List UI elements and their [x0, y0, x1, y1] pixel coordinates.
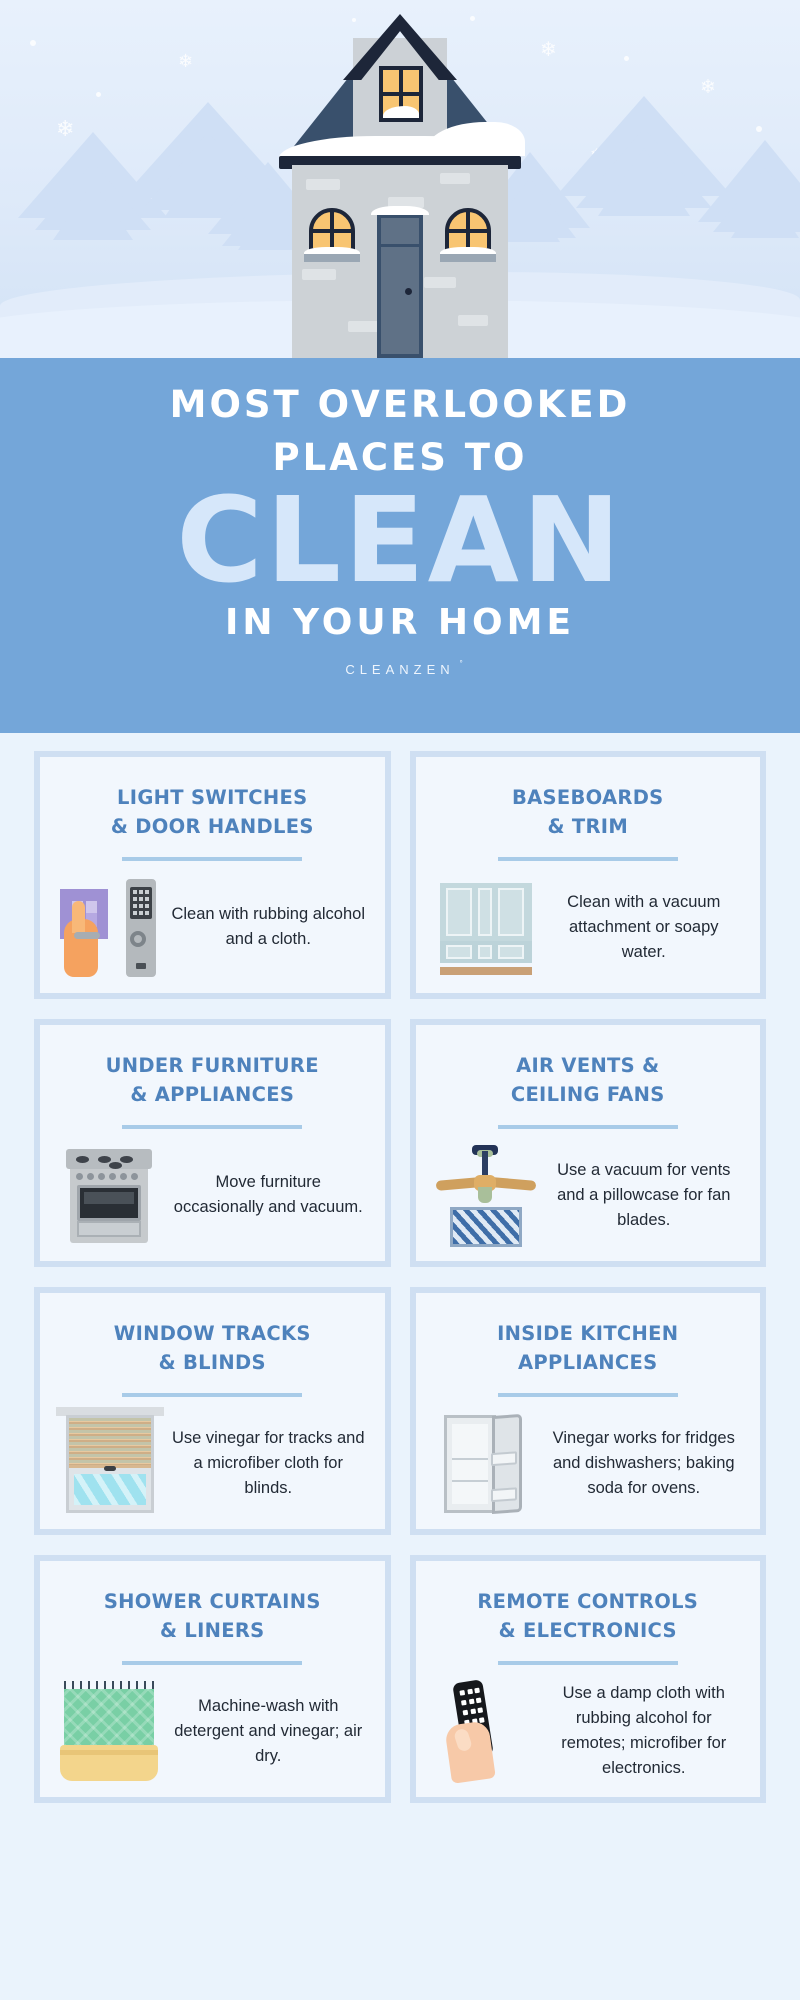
window-sill-snow — [304, 247, 360, 254]
card-divider — [498, 1393, 678, 1397]
card-description: Clean with rubbing alcohol and a cloth. — [170, 902, 367, 952]
snowflake-icon: ❄ — [540, 40, 557, 60]
tip-card-remote-controls: REMOTE CONTROLS & ELECTRONICS — [410, 1555, 767, 1803]
tip-card-under-furniture: UNDER FURNITURE & APPLIANCES — [34, 1019, 391, 1267]
card-title-line-1: BASEBOARDS — [432, 783, 745, 812]
card-title-line-2: & DOOR HANDLES — [56, 812, 369, 841]
light-switch-door-handle-icon — [58, 875, 162, 979]
tip-card-window-tracks: WINDOW TRACKS & BLINDS Use vinegar for t… — [34, 1287, 391, 1535]
card-description: Use vinegar for tracks and a microfiber … — [170, 1426, 367, 1501]
front-door — [377, 214, 423, 358]
card-title: UNDER FURNITURE & APPLIANCES — [56, 1051, 369, 1109]
brand-mark-icon: ° — [459, 659, 467, 668]
card-title-line-2: APPLIANCES — [432, 1348, 745, 1377]
card-title-line-1: INSIDE KITCHEN — [432, 1319, 745, 1348]
card-title-line-1: LIGHT SWITCHES — [56, 783, 369, 812]
snow-dot — [30, 40, 36, 46]
card-title-line-2: & TRIM — [432, 812, 745, 841]
card-title: INSIDE KITCHEN APPLIANCES — [432, 1319, 745, 1377]
brand-name: CLEANZEN — [345, 662, 454, 677]
door-frame-snow — [371, 206, 429, 215]
tip-card-kitchen-appliances: INSIDE KITCHEN APPLIANCES Vinegar wo — [410, 1287, 767, 1535]
card-description: Use a damp cloth with rubbing alcohol fo… — [546, 1681, 743, 1781]
banner-line-4: IN YOUR HOME — [0, 592, 800, 654]
card-divider — [122, 1393, 302, 1397]
card-title-line-2: & ELECTRONICS — [432, 1616, 745, 1645]
card-title: SHOWER CURTAINS & LINERS — [56, 1587, 369, 1645]
card-divider — [122, 1125, 302, 1129]
card-title-line-2: & BLINDS — [56, 1348, 369, 1377]
remote-control-icon — [434, 1679, 538, 1783]
window-sill-snow — [440, 247, 496, 254]
front-window-right — [445, 208, 491, 252]
card-title: WINDOW TRACKS & BLINDS — [56, 1319, 369, 1377]
card-title-line-1: REMOTE CONTROLS — [432, 1587, 745, 1616]
card-title-line-2: & LINERS — [56, 1616, 369, 1645]
card-title-line-1: SHOWER CURTAINS — [56, 1587, 369, 1616]
tips-grid: LIGHT SWITCHES & DOOR HANDLES — [0, 733, 800, 1831]
snowflake-icon: ❄ — [178, 52, 193, 70]
ceiling-fan-vent-icon — [434, 1143, 538, 1247]
card-title-line-1: WINDOW TRACKS — [56, 1319, 369, 1348]
card-divider — [122, 1661, 302, 1665]
brand-logo: CLEANZEN ° — [345, 662, 454, 677]
title-banner: MOST OVERLOOKED PLACES TO CLEAN IN YOUR … — [0, 358, 800, 733]
infographic-page: ❄ ❄ ❄ ❄ ❄ — [0, 0, 800, 2000]
card-description: Move furniture occasionally and vacuum. — [170, 1170, 367, 1220]
window-blinds-icon — [58, 1411, 162, 1515]
pine-tree — [698, 140, 800, 302]
card-divider — [122, 857, 302, 861]
baseboard-trim-icon — [434, 875, 538, 979]
card-title-line-2: CEILING FANS — [432, 1080, 745, 1109]
card-title-line-1: UNDER FURNITURE — [56, 1051, 369, 1080]
card-title: REMOTE CONTROLS & ELECTRONICS — [432, 1587, 745, 1645]
tip-card-light-switches: LIGHT SWITCHES & DOOR HANDLES — [34, 751, 391, 999]
door-knob-icon — [405, 288, 412, 295]
banner-line-1: MOST OVERLOOKED — [0, 382, 800, 428]
tip-card-baseboards: BASEBOARDS & TRIM Cle — [410, 751, 767, 999]
snow-dot — [96, 92, 101, 97]
card-title: AIR VENTS & CEILING FANS — [432, 1051, 745, 1109]
stove-icon — [58, 1143, 162, 1247]
snowflake-icon: ❄ — [700, 78, 716, 97]
hero-winter-scene: ❄ ❄ ❄ ❄ ❄ — [0, 0, 800, 358]
snow-dot — [756, 126, 762, 132]
tip-card-shower-curtains: SHOWER CURTAINS & LINERS Machine-wash wi… — [34, 1555, 391, 1803]
card-divider — [498, 857, 678, 861]
refrigerator-icon — [434, 1411, 538, 1515]
banner-headline-clean: CLEAN — [0, 488, 800, 592]
card-title-line-2: & APPLIANCES — [56, 1080, 369, 1109]
window-sill-left — [304, 253, 360, 262]
card-title: BASEBOARDS & TRIM — [432, 783, 745, 841]
card-description: Clean with a vacuum attachment or soapy … — [546, 890, 743, 965]
card-divider — [498, 1125, 678, 1129]
card-description: Use a vacuum for vents and a pillowcase … — [546, 1158, 743, 1233]
front-window-left — [309, 208, 355, 252]
tip-card-air-vents: AIR VENTS & CEILING FANS Use a vacuum fo… — [410, 1019, 767, 1267]
shower-curtain-icon — [58, 1679, 162, 1783]
card-divider — [498, 1661, 678, 1665]
window-sill-right — [440, 253, 496, 262]
card-description: Machine-wash with detergent and vinegar;… — [170, 1694, 367, 1769]
house-illustration — [265, 10, 535, 358]
card-title-line-1: AIR VENTS & — [432, 1051, 745, 1080]
attic-window — [379, 66, 423, 122]
snow-dot — [624, 56, 629, 61]
card-title: LIGHT SWITCHES & DOOR HANDLES — [56, 783, 369, 841]
card-description: Vinegar works for fridges and dishwasher… — [546, 1426, 743, 1501]
